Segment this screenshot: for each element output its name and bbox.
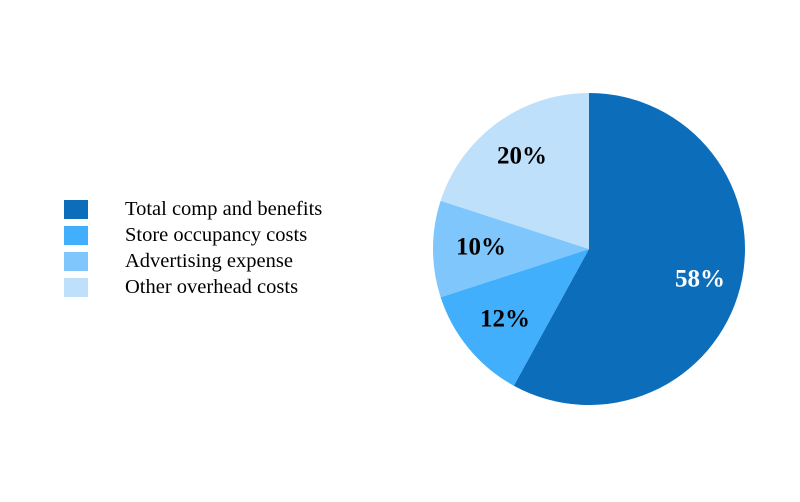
pie-slice-label: 20% xyxy=(497,143,547,170)
legend-item-total-comp-and-benefits[interactable]: Total comp and benefits xyxy=(64,196,394,222)
legend-item-label: Advertising expense xyxy=(125,251,293,272)
legend-item-advertising-expense[interactable]: Advertising expense xyxy=(64,248,394,274)
legend-swatch-icon xyxy=(64,278,88,297)
legend-swatch-icon xyxy=(64,226,88,245)
pie-slice-label: 10% xyxy=(456,234,506,261)
pie-slice-label: 12% xyxy=(480,306,530,333)
legend-swatch-icon xyxy=(64,200,88,219)
legend-item-store-occupancy-costs[interactable]: Store occupancy costs xyxy=(64,222,394,248)
pie-plot-area: 58%12%10%20% xyxy=(433,93,745,405)
chart-legend: Total comp and benefits Store occupancy … xyxy=(64,196,394,300)
legend-item-other-overhead-costs[interactable]: Other overhead costs xyxy=(64,274,394,300)
legend-swatch-icon xyxy=(64,252,88,271)
pie-chart-figure: Total comp and benefits Store occupancy … xyxy=(0,0,800,502)
pie-svg: 58%12%10%20% xyxy=(433,93,745,405)
legend-item-label: Store occupancy costs xyxy=(125,225,307,246)
legend-item-label: Total comp and benefits xyxy=(125,199,322,220)
legend-item-label: Other overhead costs xyxy=(125,277,298,298)
pie-slice-label: 58% xyxy=(675,266,725,293)
